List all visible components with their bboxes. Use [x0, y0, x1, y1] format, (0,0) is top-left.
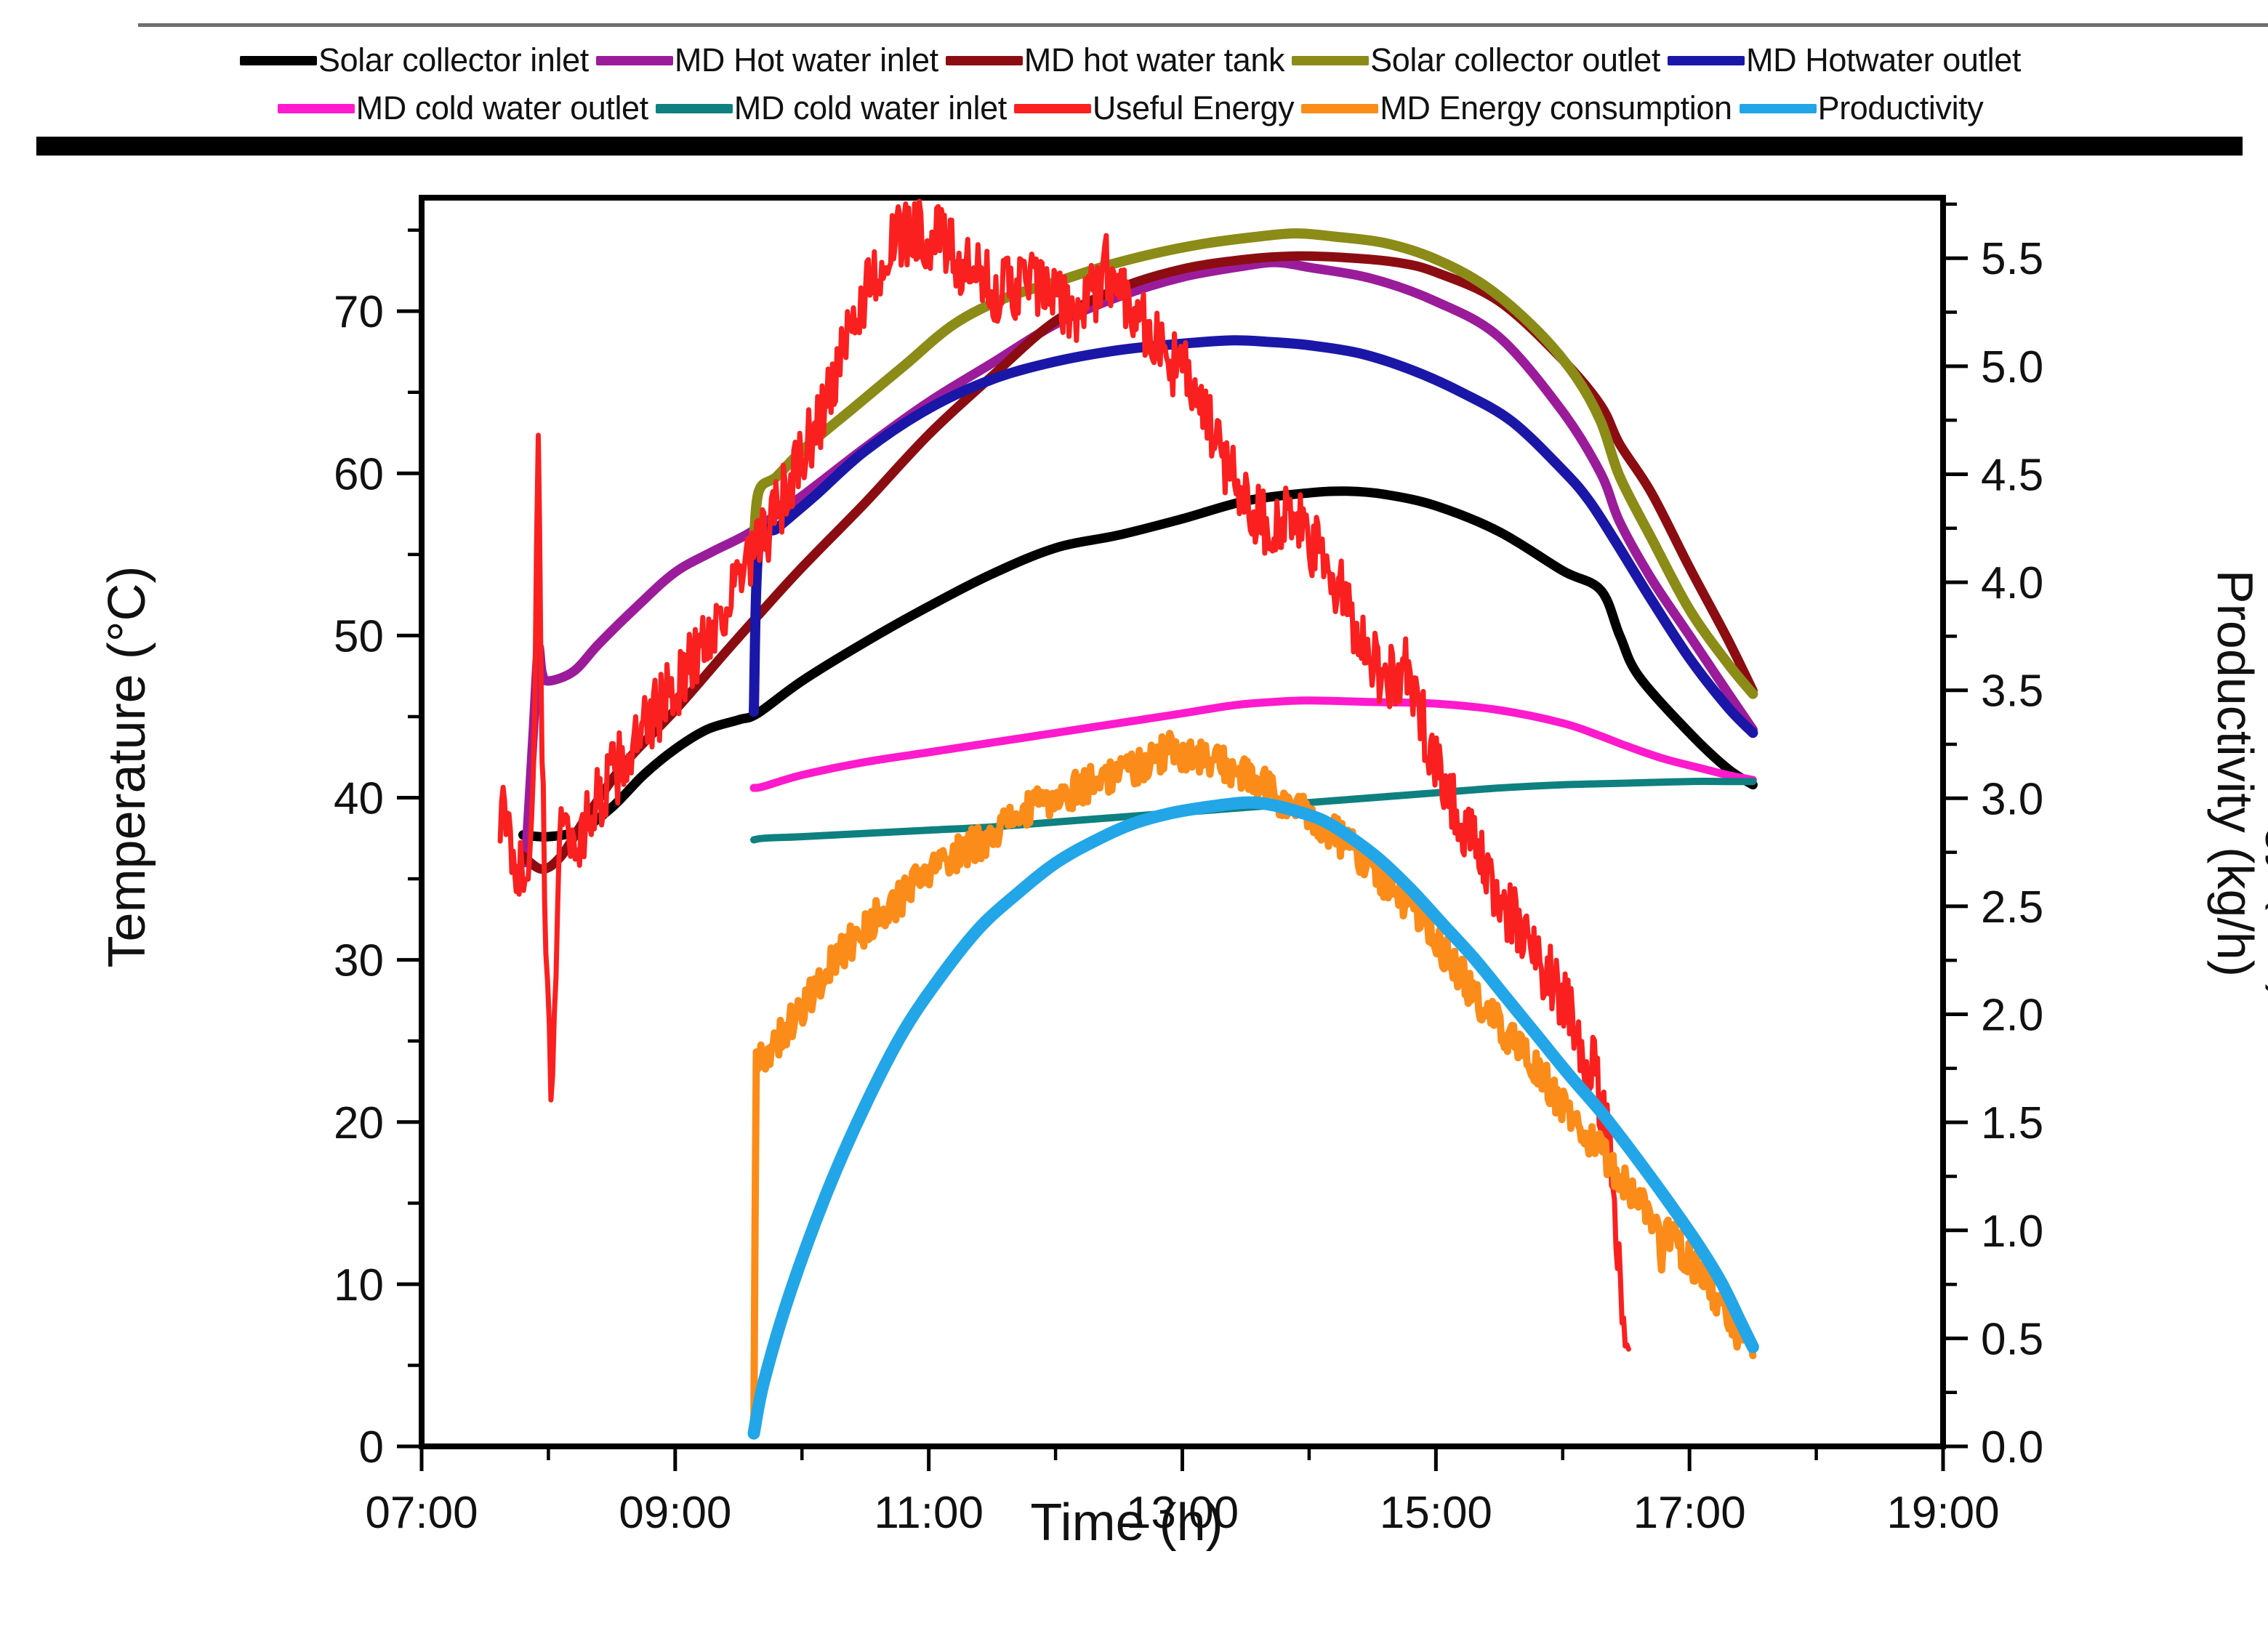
series-line-md-energy-consumption — [754, 733, 1753, 1435]
legend-item-label: MD Hotwater outlet — [1746, 41, 2021, 79]
legend-item-label: MD Hot water inlet — [675, 41, 938, 79]
x-axis-tick-label: 17:00 — [1633, 1488, 1746, 1538]
y-axis-right-tick-label: 3.0 — [1981, 774, 2043, 824]
legend-item: MD hot water tank — [946, 41, 1292, 79]
y-axis-left-tick-label: 50 — [334, 611, 384, 661]
x-axis-tick-label: 19:00 — [1886, 1488, 1999, 1538]
y-axis-right-tick-label: 3.5 — [1981, 667, 2043, 717]
y-axis-left-tick-label: 40 — [334, 774, 384, 824]
legend-color-swatch — [1668, 56, 1745, 65]
y-axis-left-tick-label: 0 — [359, 1422, 384, 1473]
legend-color-swatch — [240, 56, 317, 65]
legend-item-label: Productivity — [1818, 89, 1984, 127]
legend-color-swatch — [656, 104, 733, 113]
y-axis-right-tick-label: 5.0 — [1981, 342, 2043, 392]
legend-item-label: MD cold water outlet — [356, 89, 648, 127]
legend-item-label: MD Energy consumption — [1380, 89, 1732, 127]
legend-color-swatch — [278, 104, 355, 113]
legend-item-label: Useful Energy — [1093, 89, 1294, 127]
y-axis-left-tick-label: 60 — [334, 449, 384, 499]
legend-color-swatch — [946, 56, 1023, 65]
legend-color-swatch — [596, 56, 673, 65]
chart-canvas: 07:0009:0011:0013:0015:0017:0019:0001020… — [0, 156, 2268, 1631]
x-axis-title: Time (h) — [800, 1493, 1454, 1553]
chart-legend: Solar collector inletMD Hot water inletM… — [0, 36, 2268, 132]
legend-item-label: MD cold water inlet — [734, 89, 1007, 127]
legend-row-1: Solar collector inletMD Hot water inletM… — [0, 36, 2268, 84]
legend-item: MD Hot water inlet — [596, 41, 946, 79]
y-axis-right-tick-label: 0.0 — [1981, 1422, 2043, 1473]
header-black-bar — [36, 137, 2243, 156]
legend-item: MD Energy consumption — [1301, 89, 1739, 127]
y-axis-right-tick-label: 0.5 — [1981, 1314, 2043, 1364]
y-axis-right-tick-label: 1.5 — [1981, 1098, 2043, 1148]
legend-color-swatch — [1014, 104, 1091, 113]
y-axis-left-tick-label: 70 — [334, 287, 384, 337]
x-axis-tick-label: 07:00 — [365, 1488, 478, 1538]
legend-item-label: Solar collector outlet — [1370, 41, 1660, 79]
y-axis-left-tick-label: 30 — [334, 936, 384, 986]
y-axis-right-tick-label: 5.5 — [1981, 234, 2043, 284]
legend-item: MD Hotwater outlet — [1668, 41, 2028, 79]
y-axis-left-tick-label: 20 — [334, 1098, 384, 1148]
legend-item: Productivity — [1740, 89, 1991, 127]
legend-item: MD cold water inlet — [656, 89, 1014, 127]
legend-item-label: MD hot water tank — [1024, 41, 1284, 79]
y-axis-right-tick-label: 4.0 — [1981, 558, 2043, 608]
top-divider-rule — [138, 23, 2268, 27]
y-axis-left-title: Temperature (°C) — [97, 491, 157, 1043]
legend-color-swatch — [1740, 104, 1817, 113]
y-axis-right-tick-label: 1.0 — [1981, 1207, 2043, 1257]
legend-item: Solar collector outlet — [1292, 41, 1668, 79]
x-axis-tick-label: 09:00 — [619, 1488, 731, 1538]
y-axis-right-tick-label: 2.5 — [1981, 882, 2043, 933]
legend-color-swatch — [1292, 56, 1369, 65]
legend-item: Useful Energy — [1014, 89, 1301, 127]
series-line-useful-energy — [500, 201, 1628, 1349]
legend-row-2: MD cold water outletMD cold water inletU… — [0, 84, 2268, 132]
y-axis-right-tick-label: 2.0 — [1981, 991, 2043, 1041]
legend-item: Solar collector inlet — [240, 41, 596, 79]
plot-area: 07:0009:0011:0013:0015:0017:0019:0001020… — [0, 156, 2268, 1631]
legend-item-label: Solar collector inlet — [318, 41, 589, 79]
plot-frame — [422, 198, 1943, 1446]
legend-item: MD cold water outlet — [278, 89, 656, 127]
y-axis-left-tick-label: 10 — [334, 1260, 384, 1310]
legend-color-swatch — [1301, 104, 1378, 113]
y-axis-right-title: Thermal Energy (kW) / Productivity (kg/h… — [2206, 406, 2268, 1140]
y-axis-right-tick-label: 4.5 — [1981, 450, 2043, 500]
